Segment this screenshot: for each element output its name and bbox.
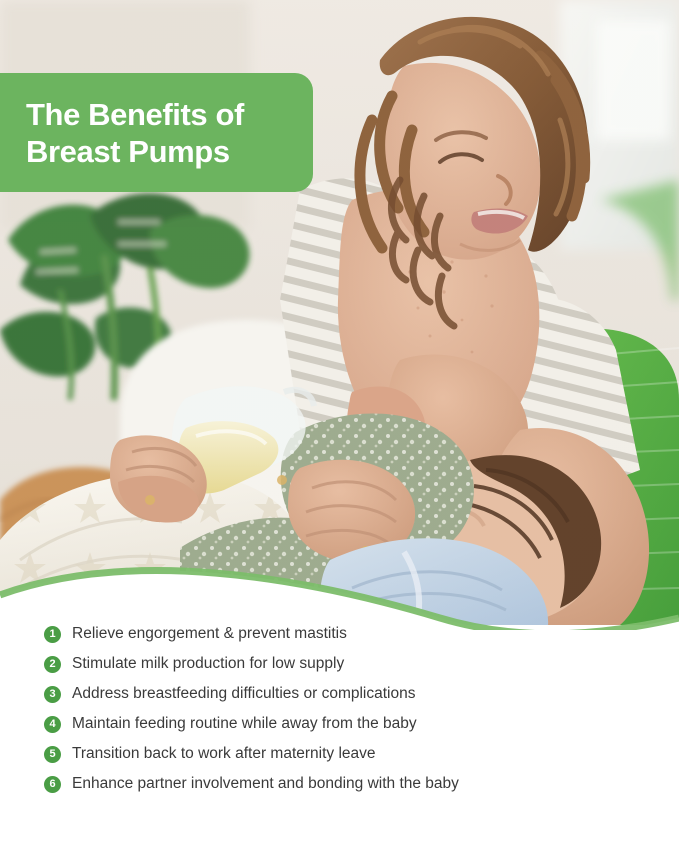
list-number-badge: 5 [44, 746, 61, 763]
list-item: 3 Address breastfeeding difficulties or … [0, 682, 679, 712]
list-item-text: Relieve engorgement & prevent mastitis [72, 622, 347, 646]
list-item: 6 Enhance partner involvement and bondin… [0, 772, 679, 802]
list-item-text: Stimulate milk production for low supply [72, 652, 344, 676]
title-banner: The Benefits of Breast Pumps [0, 73, 313, 192]
list-item: 2 Stimulate milk production for low supp… [0, 652, 679, 682]
benefits-list: 1 Relieve engorgement & prevent mastitis… [0, 622, 679, 802]
list-item-text: Maintain feeding routine while away from… [72, 712, 417, 736]
list-number-badge: 3 [44, 686, 61, 703]
list-number-badge: 2 [44, 656, 61, 673]
list-number-badge: 6 [44, 776, 61, 793]
list-item-text: Transition back to work after maternity … [72, 742, 376, 766]
list-item-text: Enhance partner involvement and bonding … [72, 772, 459, 796]
list-number-badge: 1 [44, 626, 61, 643]
list-item: 4 Maintain feeding routine while away fr… [0, 712, 679, 742]
list-item: 5 Transition back to work after maternit… [0, 742, 679, 772]
list-item-text: Address breastfeeding difficulties or co… [72, 682, 415, 706]
infographic-page: 1 Relieve engorgement & prevent mastitis… [0, 0, 679, 849]
list-number-badge: 4 [44, 716, 61, 733]
page-title-line-2: Breast Pumps [26, 134, 293, 171]
list-item: 1 Relieve engorgement & prevent mastitis [0, 622, 679, 652]
page-title-line-1: The Benefits of [26, 97, 293, 134]
